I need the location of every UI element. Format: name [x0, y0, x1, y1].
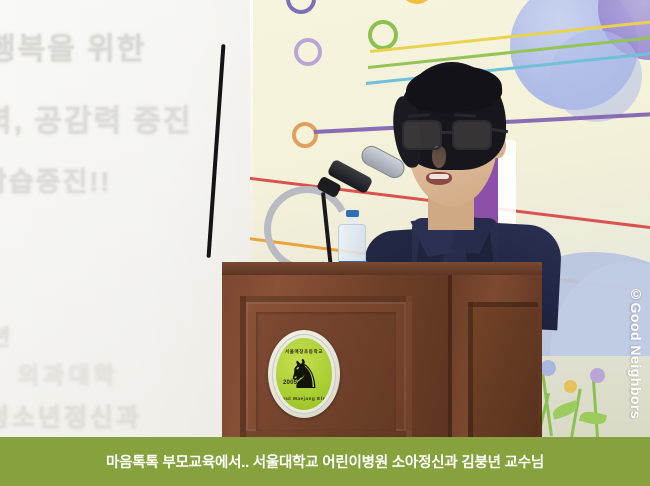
- podium-side-moulding: [468, 302, 538, 437]
- slide-text-line-5: 의과대학: [18, 356, 119, 390]
- emblem-english-name: Seoul Maejang Elementary School: [276, 396, 332, 401]
- slide-text-line-1: 행복을 위한: [0, 24, 146, 68]
- podium-edge: [448, 273, 452, 437]
- ring-decoration-green: [368, 20, 398, 50]
- ring-decoration-lavender: [294, 38, 322, 66]
- slide-text-line-4: 년: [0, 320, 16, 352]
- microphone: [268, 150, 408, 276]
- screenshot-root: 행복을 위한 력, 공감력 증진 학습증진!! 년 의과대학 청소년정신과: [0, 0, 650, 486]
- copyright-icon: ©: [628, 286, 644, 303]
- glasses-bridge: [442, 131, 454, 134]
- lens-right: [452, 120, 492, 150]
- ring-decoration-purple: [286, 0, 316, 14]
- emblem-field: 서울매장초등학교 ♞ 2005 Seoul Maejang Elementary…: [276, 338, 332, 410]
- horse-icon: ♞: [286, 355, 322, 395]
- eyeglasses-icon: [400, 120, 504, 150]
- ring-decoration-orange: [292, 122, 318, 148]
- flower-bud: [590, 368, 605, 383]
- copyright-watermark: ©Good Neighbors: [628, 286, 644, 419]
- copyright-text: Good Neighbors: [628, 303, 644, 420]
- podium-top-surface: [222, 262, 542, 275]
- slide-text-line-6: 청소년정신과: [0, 398, 142, 434]
- emblem-year: 2005: [283, 380, 297, 386]
- caption-text: 마음톡톡 부모교육에서.. 서울대학교 어린이병원 소아정신과 김붕년 교수님: [106, 451, 544, 472]
- lens-left: [402, 120, 442, 150]
- mouth: [426, 172, 452, 185]
- caption-bar: 마음톡톡 부모교육에서.. 서울대학교 어린이병원 소아정신과 김붕년 교수님: [0, 437, 650, 486]
- flower-bud: [564, 380, 577, 393]
- flower-bud: [540, 360, 556, 376]
- event-photo: 행복을 위한 력, 공감력 증진 학습증진!! 년 의과대학 청소년정신과: [0, 0, 650, 437]
- slide-text-line-2: 력, 공감력 증진: [0, 96, 193, 140]
- school-emblem: 서울매장초등학교 ♞ 2005 Seoul Maejang Elementary…: [268, 330, 340, 418]
- ring-decoration-yellow: [400, 0, 434, 4]
- slide-text-line-3: 학습증진!!: [0, 160, 111, 199]
